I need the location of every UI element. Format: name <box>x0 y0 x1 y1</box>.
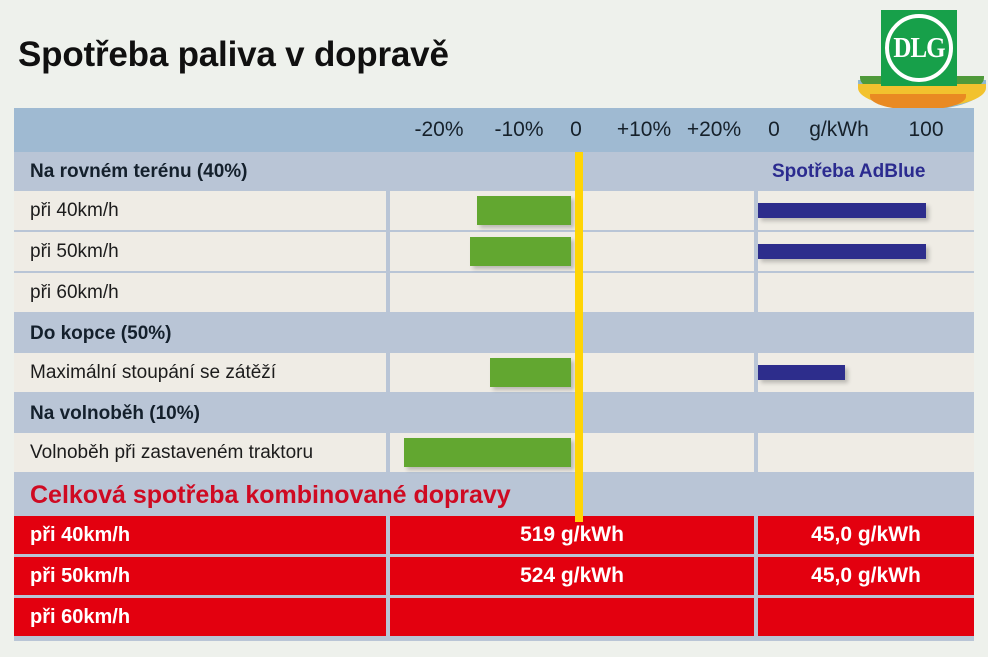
section-heading-label: Do kopce (50%) <box>14 323 171 345</box>
totals-heading: Celková spotřeba kombinované dopravy <box>14 481 511 510</box>
table-row: při 60km/h <box>14 273 974 312</box>
adblue-bar-cell <box>758 273 974 312</box>
page-title: Spotřeba paliva v dopravě <box>18 35 449 75</box>
percent-scale-ticks: -20%-10%0+10%+20% <box>386 108 754 152</box>
fuel-consumption-bar <box>490 358 571 387</box>
adblue-consumption-bar <box>758 365 845 380</box>
totals-header-row: Celková spotřeba kombinované dopravy <box>14 474 974 516</box>
total-row-label: při 40km/h <box>14 516 386 554</box>
table-body: Na rovném terénu (40%)Spotřeba AdBluepři… <box>14 152 974 472</box>
percent-bar-cell <box>390 191 754 230</box>
percent-tick-4: +20% <box>687 118 741 142</box>
row-label: při 50km/h <box>14 232 386 271</box>
section-heading-label: Na rovném terénu (40%) <box>14 161 248 183</box>
total-consumption-value <box>390 598 754 636</box>
fuel-consumption-table: -20%-10%0+10%+20% 0g/kWh100 Na rovném te… <box>14 108 974 641</box>
total-row-label: při 50km/h <box>14 557 386 595</box>
adblue-consumption-bar <box>758 203 926 218</box>
section-header: Na volnoběh (10%) <box>14 394 974 433</box>
percent-tick-0: -20% <box>414 118 463 142</box>
adblue-bar-cell <box>758 353 974 392</box>
row-label: Volnoběh při zastaveném traktoru <box>14 433 386 472</box>
percent-bar-cell <box>390 433 754 472</box>
total-row: při 40km/h519 g/kWh45,0 g/kWh <box>14 516 974 554</box>
percent-tick-3: +10% <box>617 118 671 142</box>
row-label: při 60km/h <box>14 273 386 312</box>
row-label: Maximální stoupání se zátěží <box>14 353 386 392</box>
total-consumption-value: 524 g/kWh <box>390 557 754 595</box>
adblue-bar-cell <box>758 232 974 271</box>
table-row: Maximální stoupání se zátěží <box>14 353 974 392</box>
totals-body: při 40km/h519 g/kWh45,0 g/kWhpři 50km/h5… <box>14 516 974 636</box>
logo-ring-icon: DLG <box>885 14 953 82</box>
percent-bar-cell <box>390 232 754 271</box>
total-row: při 60km/h <box>14 598 974 636</box>
total-adblue-value <box>758 598 974 636</box>
percent-bar-cell <box>390 273 754 312</box>
adblue-tick-0: 0 <box>768 118 780 142</box>
adblue-scale-ticks: 0g/kWh100 <box>754 108 974 152</box>
table-row: při 50km/h <box>14 232 974 271</box>
row-label: při 40km/h <box>14 191 386 230</box>
adblue-tick-1: g/kWh <box>809 118 869 142</box>
total-consumption-value: 519 g/kWh <box>390 516 754 554</box>
fuel-consumption-bar <box>470 237 571 266</box>
adblue-column-label: Spotřeba AdBlue <box>772 161 925 183</box>
total-row-label: při 60km/h <box>14 598 386 636</box>
adblue-bar-cell <box>758 433 974 472</box>
scale-header-row: -20%-10%0+10%+20% 0g/kWh100 <box>14 108 974 152</box>
adblue-consumption-bar <box>758 244 926 259</box>
percent-tick-2: 0 <box>570 118 582 142</box>
section-header: Do kopce (50%) <box>14 314 974 353</box>
dlg-logo: DLG <box>858 8 986 116</box>
total-row: při 50km/h524 g/kWh45,0 g/kWh <box>14 557 974 595</box>
adblue-tick-2: 100 <box>908 118 943 142</box>
section-header: Na rovném terénu (40%)Spotřeba AdBlue <box>14 152 974 191</box>
fuel-consumption-bar <box>404 438 571 467</box>
total-adblue-value: 45,0 g/kWh <box>758 516 974 554</box>
section-heading-label: Na volnoběh (10%) <box>14 403 200 425</box>
total-adblue-value: 45,0 g/kWh <box>758 557 974 595</box>
percent-tick-1: -10% <box>494 118 543 142</box>
table-row: při 40km/h <box>14 191 974 230</box>
logo-letters: DLG <box>893 34 944 63</box>
fuel-consumption-bar <box>477 196 571 225</box>
percent-bar-cell <box>390 353 754 392</box>
table-row: Volnoběh při zastaveném traktoru <box>14 433 974 472</box>
logo-mark: DLG <box>881 10 957 86</box>
adblue-bar-cell <box>758 191 974 230</box>
